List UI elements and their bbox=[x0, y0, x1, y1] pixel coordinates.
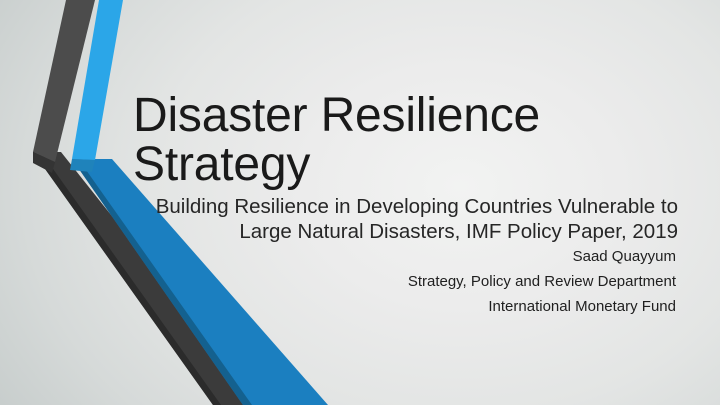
page-title: Disaster Resilience Strategy bbox=[120, 92, 680, 190]
presentation-slide: Disaster Resilience Strategy Building Re… bbox=[0, 0, 720, 405]
subtitle-line-2: Large Natural Disasters, IMF Policy Pape… bbox=[120, 219, 678, 244]
title-block: Disaster Resilience Strategy Building Re… bbox=[120, 92, 680, 245]
slide-text-layer: Disaster Resilience Strategy Building Re… bbox=[0, 0, 720, 405]
author-department: Strategy, Policy and Review Department bbox=[256, 269, 676, 294]
author-name: Saad Quayyum bbox=[256, 244, 676, 269]
slide-subtitle: Building Resilience in Developing Countr… bbox=[120, 194, 680, 245]
author-block: Saad Quayyum Strategy, Policy and Review… bbox=[256, 244, 676, 319]
subtitle-line-1: Building Resilience in Developing Countr… bbox=[120, 194, 678, 219]
author-organization: International Monetary Fund bbox=[256, 294, 676, 319]
